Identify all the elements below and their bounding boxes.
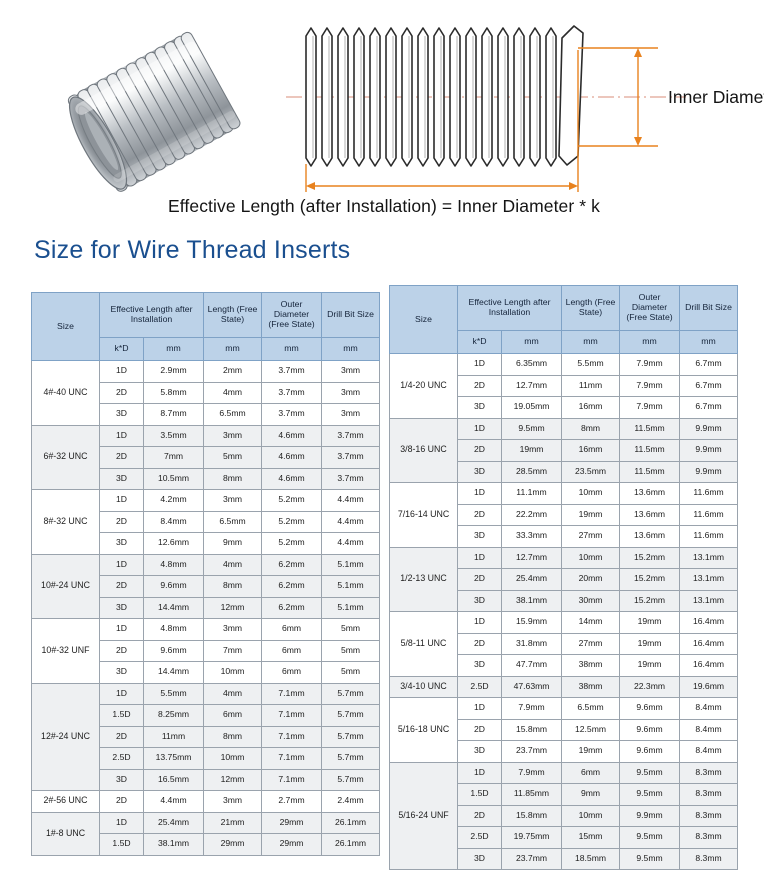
formula-caption: Effective Length (after Installation) = …: [0, 196, 768, 217]
cell-effective-mm: 7.9mm: [502, 762, 562, 784]
cell-size: 7/16-14 UNC: [390, 483, 458, 548]
cell-length-free-state: 10mm: [204, 662, 262, 684]
cell-outer-diameter: 9.5mm: [620, 848, 680, 870]
cell-kd: 1.5D: [458, 784, 502, 806]
cell-kd: 1D: [458, 698, 502, 720]
cell-outer-diameter: 13.6mm: [620, 526, 680, 548]
cell-length-free-state: 6mm: [204, 705, 262, 727]
cell-outer-diameter: 7.1mm: [262, 748, 322, 770]
cell-length-free-state: 2mm: [204, 361, 262, 383]
cell-effective-mm: 8.7mm: [144, 404, 204, 426]
cell-drill-bit-size: 26.1mm: [322, 834, 380, 856]
cell-outer-diameter: 9.5mm: [620, 762, 680, 784]
cell-drill-bit-size: 4.4mm: [322, 511, 380, 533]
cell-outer-diameter: 9.5mm: [620, 784, 680, 806]
unit-header-mm-drill: mm: [680, 331, 738, 354]
cell-effective-mm: 19.75mm: [502, 827, 562, 849]
col-header-size: Size: [32, 293, 100, 361]
coil-turns: [306, 26, 583, 166]
cell-drill-bit-size: 5.7mm: [322, 769, 380, 791]
cell-effective-mm: 4.4mm: [144, 791, 204, 813]
cell-length-free-state: 23.5mm: [562, 461, 620, 483]
cell-length-free-state: 6mm: [562, 762, 620, 784]
cell-length-free-state: 7mm: [204, 640, 262, 662]
cell-drill-bit-size: 6.7mm: [680, 354, 738, 376]
table-row: 10#-24 UNC1D4.8mm4mm6.2mm5.1mm: [32, 554, 380, 576]
cell-effective-mm: 7mm: [144, 447, 204, 469]
cell-outer-diameter: 9.6mm: [620, 698, 680, 720]
cell-length-free-state: 16mm: [562, 440, 620, 462]
cell-kd: 3D: [458, 741, 502, 763]
cell-kd: 2D: [458, 719, 502, 741]
cell-kd: 2D: [458, 440, 502, 462]
table-row: 7/16-14 UNC1D11.1mm10mm13.6mm11.6mm: [390, 483, 738, 505]
cell-drill-bit-size: 13.1mm: [680, 569, 738, 591]
cell-drill-bit-size: 8.3mm: [680, 762, 738, 784]
cell-drill-bit-size: 16.4mm: [680, 633, 738, 655]
unit-header-mm-length: mm: [204, 338, 262, 361]
cell-length-free-state: 4mm: [204, 554, 262, 576]
cell-outer-diameter: 5.2mm: [262, 511, 322, 533]
table-row: 3/8-16 UNC1D9.5mm8mm11.5mm9.9mm: [390, 418, 738, 440]
cell-drill-bit-size: 8.4mm: [680, 698, 738, 720]
cell-outer-diameter: 4.6mm: [262, 447, 322, 469]
cell-effective-mm: 9.5mm: [502, 418, 562, 440]
cell-size: 1#-8 UNC: [32, 812, 100, 855]
table-row: 6#-32 UNC1D3.5mm3mm4.6mm3.7mm: [32, 425, 380, 447]
col-header-outer-diameter: Outer Diameter (Free State): [262, 293, 322, 338]
cell-effective-mm: 15.8mm: [502, 805, 562, 827]
cell-length-free-state: 38mm: [562, 655, 620, 677]
cell-length-free-state: 8mm: [562, 418, 620, 440]
cell-kd: 2.5D: [458, 676, 502, 698]
table-row: 12#-24 UNC1D5.5mm4mm7.1mm5.7mm: [32, 683, 380, 705]
cell-drill-bit-size: 5mm: [322, 662, 380, 684]
cell-effective-mm: 6.35mm: [502, 354, 562, 376]
cell-kd: 3D: [458, 848, 502, 870]
cell-outer-diameter: 29mm: [262, 812, 322, 834]
cell-drill-bit-size: 8.3mm: [680, 848, 738, 870]
cell-kd: 1D: [100, 619, 144, 641]
table-head: Size Effective Length after Installation…: [32, 293, 380, 361]
cell-outer-diameter: 7.9mm: [620, 375, 680, 397]
cell-length-free-state: 5mm: [204, 447, 262, 469]
cell-drill-bit-size: 3.7mm: [322, 447, 380, 469]
cell-length-free-state: 9mm: [562, 784, 620, 806]
cell-outer-diameter: 3.7mm: [262, 382, 322, 404]
cell-effective-mm: 9.6mm: [144, 576, 204, 598]
cell-outer-diameter: 11.5mm: [620, 440, 680, 462]
cell-size: 2#-56 UNC: [32, 791, 100, 813]
cell-drill-bit-size: 8.3mm: [680, 805, 738, 827]
cell-length-free-state: 8mm: [204, 726, 262, 748]
cell-length-free-state: 10mm: [562, 483, 620, 505]
cell-length-free-state: 38mm: [562, 676, 620, 698]
cell-drill-bit-size: 3.7mm: [322, 468, 380, 490]
cell-kd: 1.5D: [100, 834, 144, 856]
cell-drill-bit-size: 3mm: [322, 404, 380, 426]
cell-effective-mm: 47.63mm: [502, 676, 562, 698]
cell-length-free-state: 30mm: [562, 590, 620, 612]
cell-kd: 3D: [100, 662, 144, 684]
table-row: 3/4-10 UNC2.5D47.63mm38mm22.3mm19.6mm: [390, 676, 738, 698]
cell-length-free-state: 16mm: [562, 397, 620, 419]
cell-effective-mm: 23.7mm: [502, 848, 562, 870]
cell-outer-diameter: 3.7mm: [262, 404, 322, 426]
cell-outer-diameter: 7.1mm: [262, 683, 322, 705]
cell-effective-mm: 25.4mm: [144, 812, 204, 834]
cell-size: 5/16-24 UNF: [390, 762, 458, 870]
cell-outer-diameter: 9.6mm: [620, 741, 680, 763]
cell-size: 5/8-11 UNC: [390, 612, 458, 677]
cell-kd: 3D: [458, 590, 502, 612]
col-header-effective-length: Effective Length after Installation: [458, 286, 562, 331]
cell-kd: 2D: [100, 791, 144, 813]
cell-length-free-state: 21mm: [204, 812, 262, 834]
cell-length-free-state: 19mm: [562, 741, 620, 763]
cell-drill-bit-size: 9.9mm: [680, 440, 738, 462]
table-row: 5/16-24 UNF1D7.9mm6mm9.5mm8.3mm: [390, 762, 738, 784]
cell-kd: 2D: [458, 375, 502, 397]
cell-effective-mm: 25.4mm: [502, 569, 562, 591]
wire-thread-insert-photo: [38, 12, 270, 212]
spec-table-right: Size Effective Length after Installation…: [389, 285, 738, 870]
cell-drill-bit-size: 6.7mm: [680, 375, 738, 397]
unit-header-mm-effective: mm: [502, 331, 562, 354]
cell-size: 1/4-20 UNC: [390, 354, 458, 419]
cell-length-free-state: 12mm: [204, 597, 262, 619]
cell-length-free-state: 19mm: [562, 504, 620, 526]
cell-length-free-state: 3mm: [204, 490, 262, 512]
cell-effective-mm: 38.1mm: [144, 834, 204, 856]
cell-outer-diameter: 11.5mm: [620, 461, 680, 483]
cell-length-free-state: 27mm: [562, 526, 620, 548]
cell-kd: 3D: [458, 397, 502, 419]
table-body: 4#-40 UNC1D2.9mm2mm3.7mm3mm2D5.8mm4mm3.7…: [32, 361, 380, 856]
cell-length-free-state: 18.5mm: [562, 848, 620, 870]
cell-size: 1/2-13 UNC: [390, 547, 458, 612]
cell-outer-diameter: 15.2mm: [620, 547, 680, 569]
cell-length-free-state: 20mm: [562, 569, 620, 591]
col-header-length-free-state: Length (Free State): [562, 286, 620, 331]
cell-size: 3/4-10 UNC: [390, 676, 458, 698]
table-row: 4#-40 UNC1D2.9mm2mm3.7mm3mm: [32, 361, 380, 383]
cell-kd: 3D: [100, 597, 144, 619]
cell-effective-mm: 15.8mm: [502, 719, 562, 741]
cell-kd: 1D: [100, 361, 144, 383]
cell-size: 6#-32 UNC: [32, 425, 100, 490]
cell-kd: 2.5D: [458, 827, 502, 849]
cell-kd: 3D: [100, 468, 144, 490]
cell-kd: 2D: [458, 805, 502, 827]
cell-effective-mm: 8.25mm: [144, 705, 204, 727]
spec-table-left: Size Effective Length after Installation…: [31, 292, 380, 856]
cell-outer-diameter: 7.1mm: [262, 726, 322, 748]
cell-drill-bit-size: 16.4mm: [680, 612, 738, 634]
cell-outer-diameter: 9.6mm: [620, 719, 680, 741]
cell-outer-diameter: 19mm: [620, 633, 680, 655]
cell-length-free-state: 4mm: [204, 683, 262, 705]
cell-drill-bit-size: 8.4mm: [680, 719, 738, 741]
cell-effective-mm: 12.6mm: [144, 533, 204, 555]
unit-header-mm-drill: mm: [322, 338, 380, 361]
cell-kd: 3D: [458, 655, 502, 677]
table-row: 8#-32 UNC1D4.2mm3mm5.2mm4.4mm: [32, 490, 380, 512]
cell-drill-bit-size: 5.7mm: [322, 683, 380, 705]
cell-length-free-state: 5.5mm: [562, 354, 620, 376]
cell-outer-diameter: 7.1mm: [262, 705, 322, 727]
cell-effective-mm: 15.9mm: [502, 612, 562, 634]
cell-effective-mm: 10.5mm: [144, 468, 204, 490]
cell-drill-bit-size: 5mm: [322, 619, 380, 641]
table-row: 1/2-13 UNC1D12.7mm10mm15.2mm13.1mm: [390, 547, 738, 569]
cell-size: 10#-24 UNC: [32, 554, 100, 619]
cell-drill-bit-size: 5.1mm: [322, 597, 380, 619]
cell-drill-bit-size: 16.4mm: [680, 655, 738, 677]
table-head: Size Effective Length after Installation…: [390, 286, 738, 354]
cell-outer-diameter: 15.2mm: [620, 569, 680, 591]
cell-kd: 1D: [458, 547, 502, 569]
cell-length-free-state: 15mm: [562, 827, 620, 849]
cell-drill-bit-size: 13.1mm: [680, 547, 738, 569]
cell-length-free-state: 3mm: [204, 425, 262, 447]
cell-drill-bit-size: 11.6mm: [680, 504, 738, 526]
cell-kd: 3D: [458, 526, 502, 548]
cell-size: 12#-24 UNC: [32, 683, 100, 791]
cell-outer-diameter: 6mm: [262, 662, 322, 684]
cell-size: 4#-40 UNC: [32, 361, 100, 426]
cell-drill-bit-size: 4.4mm: [322, 490, 380, 512]
cell-outer-diameter: 6.2mm: [262, 576, 322, 598]
cell-outer-diameter: 15.2mm: [620, 590, 680, 612]
table-row: 1/4-20 UNC1D6.35mm5.5mm7.9mm6.7mm: [390, 354, 738, 376]
cell-effective-mm: 8.4mm: [144, 511, 204, 533]
col-header-drill-bit-size: Drill Bit Size: [680, 286, 738, 331]
cell-effective-mm: 5.5mm: [144, 683, 204, 705]
cell-effective-mm: 19mm: [502, 440, 562, 462]
cell-kd: 2D: [458, 569, 502, 591]
cell-drill-bit-size: 26.1mm: [322, 812, 380, 834]
unit-header-mm-effective: mm: [144, 338, 204, 361]
cell-kd: 2D: [100, 726, 144, 748]
cell-outer-diameter: 13.6mm: [620, 504, 680, 526]
cell-length-free-state: 10mm: [562, 805, 620, 827]
cell-kd: 3D: [100, 769, 144, 791]
cell-drill-bit-size: 11.6mm: [680, 483, 738, 505]
cell-effective-mm: 5.8mm: [144, 382, 204, 404]
cell-outer-diameter: 3.7mm: [262, 361, 322, 383]
cell-effective-mm: 33.3mm: [502, 526, 562, 548]
unit-header-mm-length: mm: [562, 331, 620, 354]
cell-kd: 1D: [458, 762, 502, 784]
cell-kd: 2D: [458, 504, 502, 526]
cell-outer-diameter: 6.2mm: [262, 597, 322, 619]
col-header-effective-length: Effective Length after Installation: [100, 293, 204, 338]
cell-outer-diameter: 9.9mm: [620, 805, 680, 827]
cell-kd: 1.5D: [100, 705, 144, 727]
cell-drill-bit-size: 5mm: [322, 640, 380, 662]
cell-outer-diameter: 6mm: [262, 619, 322, 641]
cell-length-free-state: 14mm: [562, 612, 620, 634]
cell-kd: 1D: [100, 554, 144, 576]
cell-size: 5/16-18 UNC: [390, 698, 458, 763]
cell-outer-diameter: 6mm: [262, 640, 322, 662]
cell-drill-bit-size: 5.7mm: [322, 726, 380, 748]
cell-outer-diameter: 4.6mm: [262, 468, 322, 490]
cell-drill-bit-size: 9.9mm: [680, 461, 738, 483]
cell-drill-bit-size: 5.1mm: [322, 576, 380, 598]
cell-drill-bit-size: 5.7mm: [322, 748, 380, 770]
unit-header-kd: k*D: [100, 338, 144, 361]
cell-drill-bit-size: 8.3mm: [680, 827, 738, 849]
cell-outer-diameter: 6.2mm: [262, 554, 322, 576]
cell-kd: 3D: [100, 404, 144, 426]
cell-kd: 1D: [100, 812, 144, 834]
cell-effective-mm: 4.2mm: [144, 490, 204, 512]
cell-effective-mm: 7.9mm: [502, 698, 562, 720]
cell-length-free-state: 10mm: [562, 547, 620, 569]
cell-kd: 1D: [458, 418, 502, 440]
cell-outer-diameter: 11.5mm: [620, 418, 680, 440]
cell-kd: 2D: [100, 640, 144, 662]
cell-outer-diameter: 19mm: [620, 655, 680, 677]
cell-length-free-state: 11mm: [562, 375, 620, 397]
table-row: 1#-8 UNC1D25.4mm21mm29mm26.1mm: [32, 812, 380, 834]
cell-length-free-state: 6.5mm: [204, 511, 262, 533]
cell-drill-bit-size: 19.6mm: [680, 676, 738, 698]
cell-kd: 1D: [100, 425, 144, 447]
cell-effective-mm: 11mm: [144, 726, 204, 748]
cell-length-free-state: 4mm: [204, 382, 262, 404]
cell-effective-mm: 38.1mm: [502, 590, 562, 612]
cell-kd: 2D: [100, 576, 144, 598]
table-row: 10#-32 UNF1D4.8mm3mm6mm5mm: [32, 619, 380, 641]
cell-effective-mm: 14.4mm: [144, 662, 204, 684]
cell-effective-mm: 28.5mm: [502, 461, 562, 483]
cell-size: 8#-32 UNC: [32, 490, 100, 555]
cell-drill-bit-size: 3mm: [322, 361, 380, 383]
cell-effective-mm: 47.7mm: [502, 655, 562, 677]
cell-length-free-state: 27mm: [562, 633, 620, 655]
cell-drill-bit-size: 6.7mm: [680, 397, 738, 419]
cell-effective-mm: 4.8mm: [144, 619, 204, 641]
cell-outer-diameter: 7.1mm: [262, 769, 322, 791]
cell-length-free-state: 9mm: [204, 533, 262, 555]
col-header-drill-bit-size: Drill Bit Size: [322, 293, 380, 338]
cell-length-free-state: 8mm: [204, 576, 262, 598]
table-row: 5/16-18 UNC1D7.9mm6.5mm9.6mm8.4mm: [390, 698, 738, 720]
cell-outer-diameter: 22.3mm: [620, 676, 680, 698]
cell-length-free-state: 3mm: [204, 619, 262, 641]
cell-kd: 1D: [458, 612, 502, 634]
cell-effective-mm: 16.5mm: [144, 769, 204, 791]
cell-drill-bit-size: 3.7mm: [322, 425, 380, 447]
cell-kd: 2D: [458, 633, 502, 655]
cell-length-free-state: 3mm: [204, 791, 262, 813]
cell-kd: 3D: [100, 533, 144, 555]
cell-drill-bit-size: 8.3mm: [680, 784, 738, 806]
cell-effective-mm: 12.7mm: [502, 375, 562, 397]
cell-kd: 3D: [458, 461, 502, 483]
cell-drill-bit-size: 5.1mm: [322, 554, 380, 576]
cell-length-free-state: 6.5mm: [562, 698, 620, 720]
cell-effective-mm: 12.7mm: [502, 547, 562, 569]
cell-effective-mm: 13.75mm: [144, 748, 204, 770]
cell-outer-diameter: 2.7mm: [262, 791, 322, 813]
cell-drill-bit-size: 13.1mm: [680, 590, 738, 612]
cell-length-free-state: 29mm: [204, 834, 262, 856]
cell-drill-bit-size: 5.7mm: [322, 705, 380, 727]
cell-kd: 2.5D: [100, 748, 144, 770]
cell-drill-bit-size: 11.6mm: [680, 526, 738, 548]
cell-outer-diameter: 4.6mm: [262, 425, 322, 447]
cell-outer-diameter: 19mm: [620, 612, 680, 634]
unit-header-mm-od: mm: [620, 331, 680, 354]
cell-drill-bit-size: 2.4mm: [322, 791, 380, 813]
cell-length-free-state: 6.5mm: [204, 404, 262, 426]
cell-kd: 1D: [458, 354, 502, 376]
cell-drill-bit-size: 9.9mm: [680, 418, 738, 440]
cell-kd: 1D: [100, 683, 144, 705]
cell-kd: 1D: [458, 483, 502, 505]
illustration-band: Inner Diameter Effective Length (after I…: [0, 0, 768, 232]
col-header-size: Size: [390, 286, 458, 354]
cell-effective-mm: 31.8mm: [502, 633, 562, 655]
cell-drill-bit-size: 8.4mm: [680, 741, 738, 763]
table-body: 1/4-20 UNC1D6.35mm5.5mm7.9mm6.7mm2D12.7m…: [390, 354, 738, 870]
cell-kd: 2D: [100, 447, 144, 469]
cell-outer-diameter: 5.2mm: [262, 533, 322, 555]
cell-effective-mm: 4.8mm: [144, 554, 204, 576]
cell-effective-mm: 23.7mm: [502, 741, 562, 763]
cell-effective-mm: 9.6mm: [144, 640, 204, 662]
cell-outer-diameter: 7.9mm: [620, 397, 680, 419]
cell-size: 10#-32 UNF: [32, 619, 100, 684]
cell-length-free-state: 8mm: [204, 468, 262, 490]
cell-outer-diameter: 7.9mm: [620, 354, 680, 376]
cell-outer-diameter: 9.5mm: [620, 827, 680, 849]
cell-kd: 2D: [100, 382, 144, 404]
cell-effective-mm: 11.1mm: [502, 483, 562, 505]
cell-length-free-state: 12.5mm: [562, 719, 620, 741]
cell-kd: 1D: [100, 490, 144, 512]
cell-length-free-state: 10mm: [204, 748, 262, 770]
col-header-length-free-state: Length (Free State): [204, 293, 262, 338]
cell-drill-bit-size: 4.4mm: [322, 533, 380, 555]
table-row: 2#-56 UNC2D4.4mm3mm2.7mm2.4mm: [32, 791, 380, 813]
cell-length-free-state: 12mm: [204, 769, 262, 791]
unit-header-kd: k*D: [458, 331, 502, 354]
cell-size: 3/8-16 UNC: [390, 418, 458, 483]
page-title: Size for Wire Thread Inserts: [34, 236, 350, 265]
col-header-outer-diameter: Outer Diameter (Free State): [620, 286, 680, 331]
inner-diameter-label: Inner Diameter: [668, 87, 764, 107]
cell-effective-mm: 2.9mm: [144, 361, 204, 383]
cell-effective-mm: 19.05mm: [502, 397, 562, 419]
cell-drill-bit-size: 3mm: [322, 382, 380, 404]
cell-kd: 2D: [100, 511, 144, 533]
table-row: 5/8-11 UNC1D15.9mm14mm19mm16.4mm: [390, 612, 738, 634]
cell-outer-diameter: 13.6mm: [620, 483, 680, 505]
coil-schematic-diagram: Inner Diameter: [286, 6, 764, 202]
cell-outer-diameter: 5.2mm: [262, 490, 322, 512]
unit-header-mm-od: mm: [262, 338, 322, 361]
cell-effective-mm: 14.4mm: [144, 597, 204, 619]
cell-effective-mm: 22.2mm: [502, 504, 562, 526]
cell-effective-mm: 11.85mm: [502, 784, 562, 806]
cell-outer-diameter: 29mm: [262, 834, 322, 856]
cell-effective-mm: 3.5mm: [144, 425, 204, 447]
